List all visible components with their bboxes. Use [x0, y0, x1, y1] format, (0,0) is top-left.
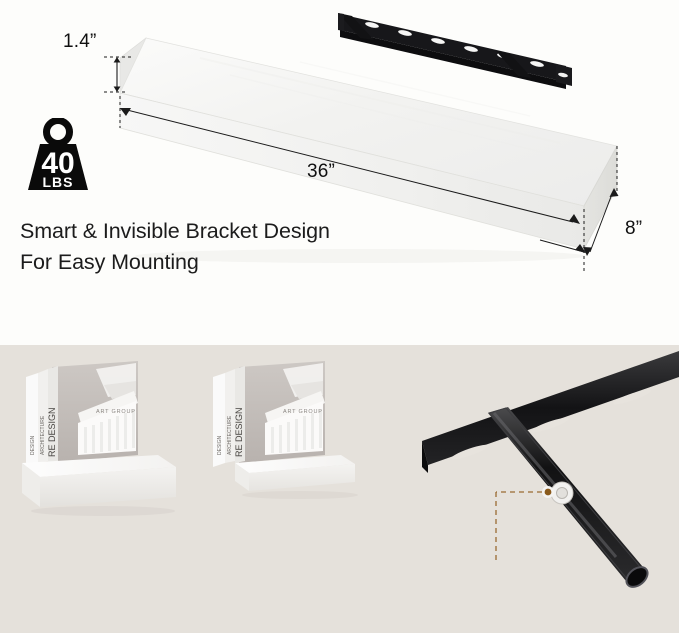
screw-dot-icon: [545, 489, 552, 496]
others-shelf-scene: ART GROUP DESIGN ARCHITECTURE RE DESIGN: [195, 351, 385, 521]
book-cover-label: ART GROUP: [283, 409, 323, 415]
book-spine-2: ARCHITECTURE: [227, 415, 233, 455]
weight-badge: 40 LBS: [22, 118, 94, 194]
invisible-bracket-icon: [338, 13, 572, 89]
book-spine-1: DESIGN: [217, 435, 223, 455]
bracket-bar: [422, 351, 679, 465]
weight-badge-icon: 40 LBS: [22, 118, 94, 194]
product-infographic: 1.4” 36” 8” 40 LBS Smart & Invisible Bra…: [0, 0, 679, 633]
leader-line: [496, 492, 542, 563]
headline-line-2: For Easy Mounting: [20, 250, 199, 275]
bottom-section: ART GROUP DESIGN ARCHITECTURE RE DESIGN: [0, 345, 679, 633]
book-spine-1: DESIGN: [30, 435, 36, 455]
top-section: 1.4” 36” 8” 40 LBS Smart & Invisible Bra…: [0, 0, 679, 345]
book-spine-2: ARCHITECTURE: [40, 415, 46, 455]
book-spine-3: RE DESIGN: [234, 407, 244, 457]
bracket-closeup-scene: [410, 345, 679, 633]
book-spine-3: RE DESIGN: [47, 407, 57, 457]
headline-line-1: Smart & Invisible Bracket Design: [20, 219, 330, 244]
shelf-shadow: [135, 249, 585, 263]
shelf-comparison: ART GROUP DESIGN ARCHITECTURE RE DESIGN: [0, 345, 410, 633]
book-cover-label: ART GROUP: [96, 409, 136, 415]
floating-shelf-3d: [0, 0, 679, 290]
thickness-label: 1.4”: [63, 31, 97, 53]
ours-shelf-scene: ART GROUP DESIGN ARCHITECTURE RE DESIGN: [8, 351, 198, 521]
weight-unit: LBS: [43, 174, 74, 190]
length-label: 36”: [307, 161, 335, 183]
depth-label: 8”: [625, 218, 642, 240]
